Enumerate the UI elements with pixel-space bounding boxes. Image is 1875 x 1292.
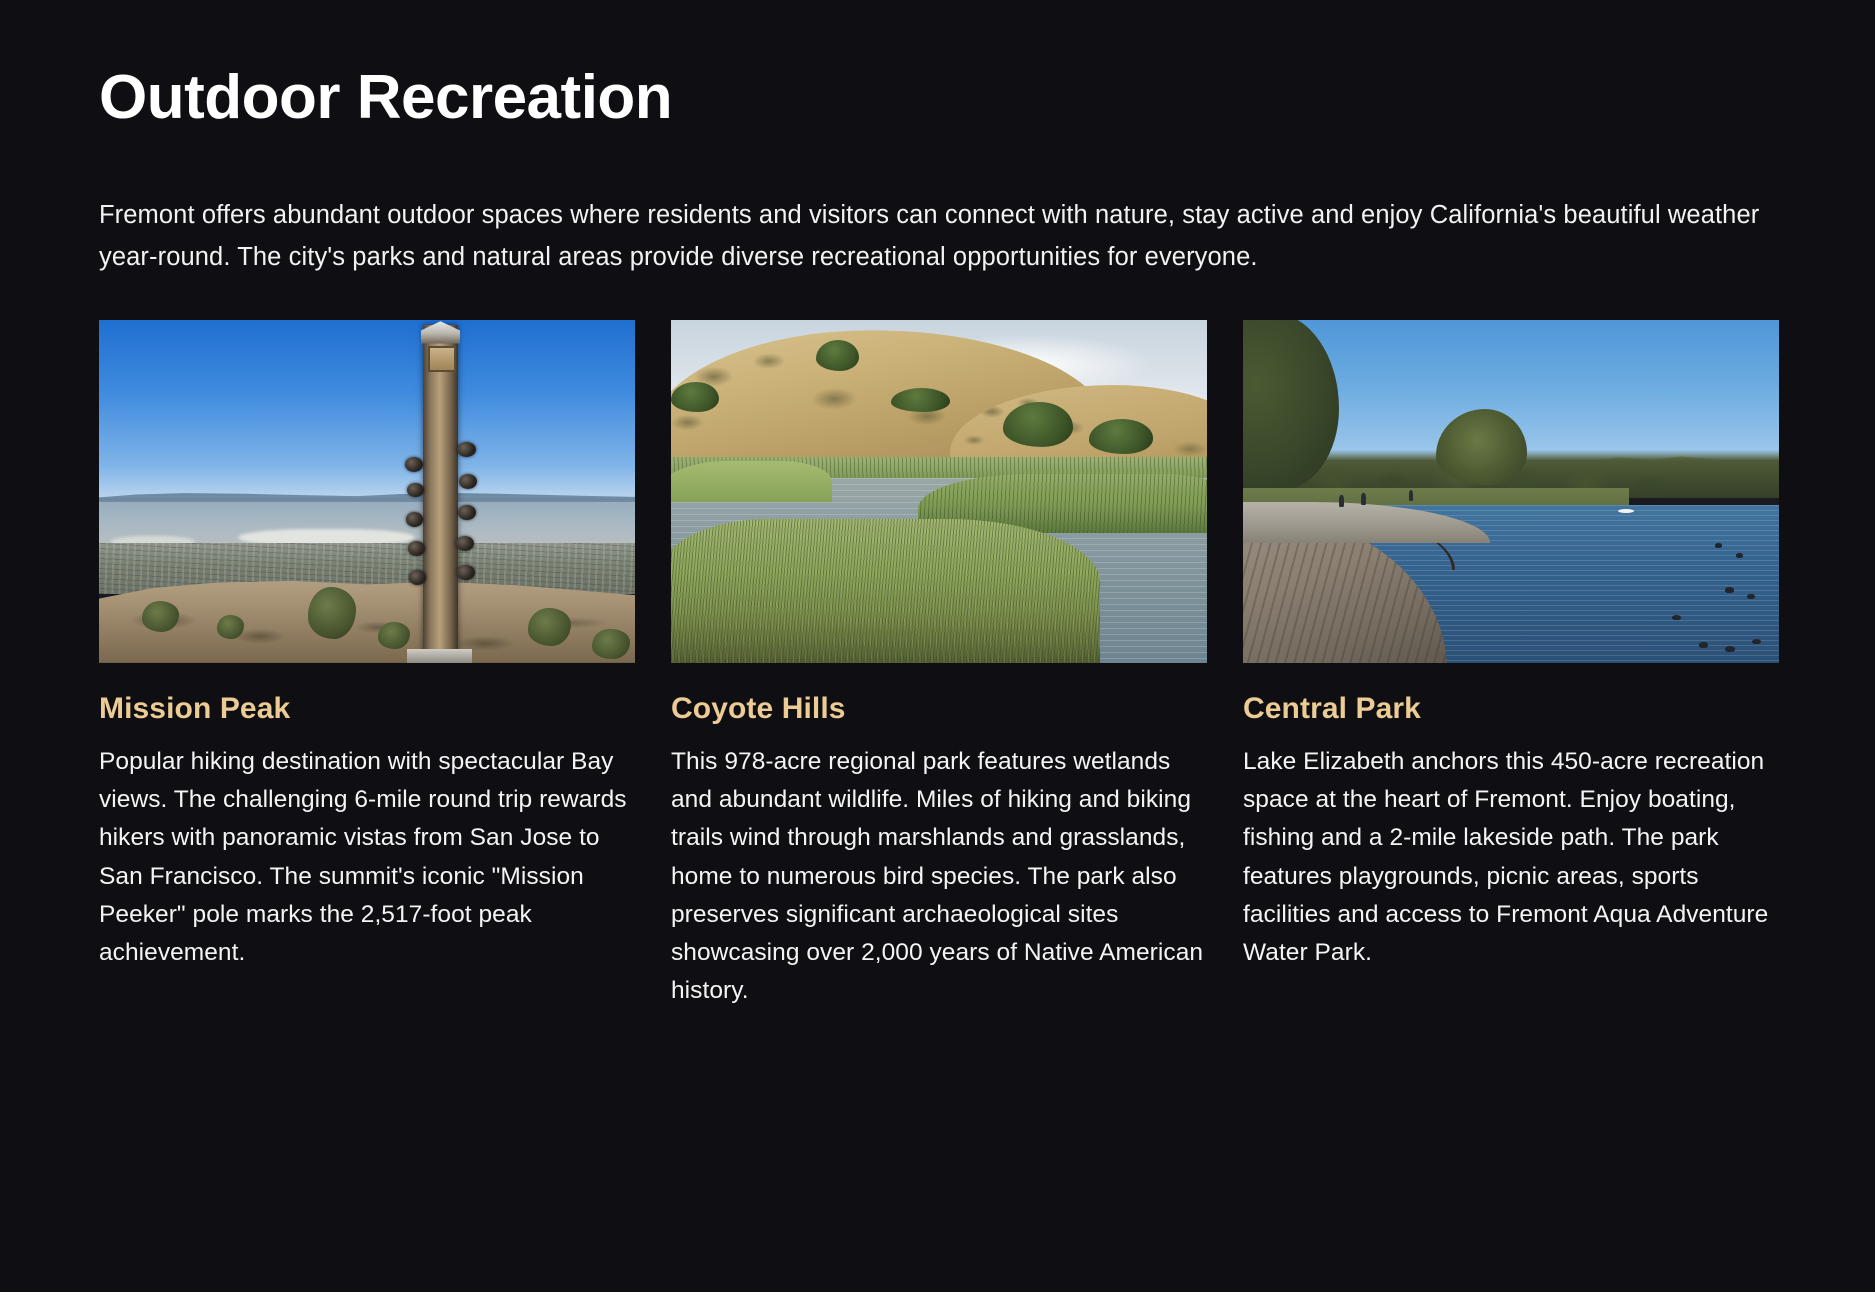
central-park-scene bbox=[1243, 320, 1779, 663]
duck bbox=[1736, 553, 1743, 557]
duck bbox=[1725, 587, 1734, 592]
pole-tube bbox=[407, 483, 424, 497]
scrub-bush bbox=[528, 608, 571, 646]
pole-tube bbox=[408, 541, 425, 555]
foreground-reeds bbox=[671, 519, 1100, 663]
park-cards-grid: Mission Peak Popular hiking destination … bbox=[99, 320, 1776, 1011]
park-visitor bbox=[1409, 490, 1413, 501]
page-title: Outdoor Recreation bbox=[99, 62, 1776, 133]
pole-tube bbox=[458, 505, 476, 520]
duck bbox=[1715, 543, 1723, 548]
grass-bank-left bbox=[671, 461, 832, 502]
pole-tube bbox=[409, 570, 426, 584]
central-park-photo bbox=[1243, 320, 1779, 663]
card-body-mission-peak: Popular hiking destination with spectacu… bbox=[99, 743, 635, 972]
park-visitor bbox=[1361, 493, 1366, 505]
gull-in-flight bbox=[1618, 509, 1634, 513]
park-card-coyote-hills[interactable]: Coyote Hills This 978-acre regional park… bbox=[671, 320, 1207, 1011]
scrub-bush bbox=[592, 629, 630, 660]
duck bbox=[1672, 615, 1681, 620]
pole-tube bbox=[405, 457, 423, 472]
oak-tree bbox=[1003, 402, 1073, 447]
page-root: Outdoor Recreation Fremont offers abunda… bbox=[0, 0, 1875, 1292]
pole-tube bbox=[457, 565, 475, 580]
mission-peak-scene bbox=[99, 320, 635, 663]
coyote-hills-photo bbox=[671, 320, 1207, 663]
card-title-coyote-hills: Coyote Hills bbox=[671, 691, 1207, 727]
oak-tree bbox=[1089, 419, 1153, 453]
oak-tree bbox=[891, 388, 950, 412]
intro-paragraph: Fremont offers abundant outdoor spaces w… bbox=[99, 195, 1776, 278]
mission-peeker-pole bbox=[423, 325, 457, 658]
pole-base-plate bbox=[407, 649, 471, 663]
sky bbox=[99, 320, 635, 498]
card-title-central-park: Central Park bbox=[1243, 691, 1779, 727]
coyote-hills-scene bbox=[671, 320, 1207, 663]
mission-peak-photo bbox=[99, 320, 635, 663]
pole-summit-plaque bbox=[428, 346, 457, 372]
duck bbox=[1699, 642, 1709, 648]
duck bbox=[1747, 594, 1755, 599]
oak-tree bbox=[671, 382, 719, 413]
duck bbox=[1725, 646, 1735, 652]
scrub-bush bbox=[217, 615, 244, 639]
park-visitor bbox=[1339, 495, 1344, 507]
oak-tree bbox=[816, 340, 859, 371]
card-title-mission-peak: Mission Peak bbox=[99, 691, 635, 727]
card-body-central-park: Lake Elizabeth anchors this 450-acre rec… bbox=[1243, 743, 1779, 972]
park-card-central-park[interactable]: Central Park Lake Elizabeth anchors this… bbox=[1243, 320, 1779, 972]
card-body-coyote-hills: This 978-acre regional park features wet… bbox=[671, 743, 1207, 1011]
park-card-mission-peak[interactable]: Mission Peak Popular hiking destination … bbox=[99, 320, 635, 972]
pole-tube bbox=[406, 512, 424, 527]
scrub-bush bbox=[378, 622, 410, 649]
